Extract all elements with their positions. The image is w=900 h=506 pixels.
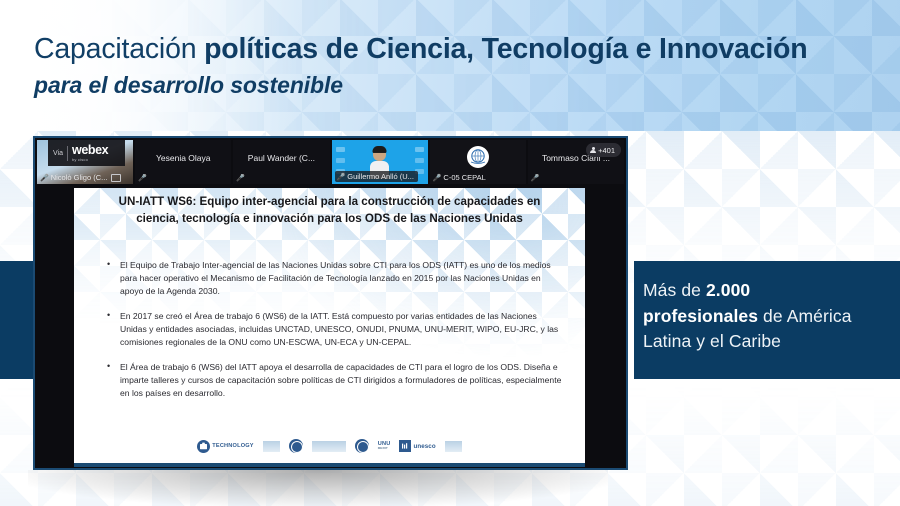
- page-title-bold: políticas de Ciencia, Tecnología e Innov…: [204, 33, 807, 65]
- unesco-icon: [399, 440, 411, 452]
- webex-meeting-window: 🎤 Nicolò Gligo (C... Yesenia Olaya 🎤 Pau…: [33, 136, 628, 470]
- participant-count-text: +401: [598, 146, 615, 155]
- participant-name-text: Paul Wander (C...: [233, 153, 329, 163]
- webex-via-label: Via: [53, 150, 63, 157]
- partner-logo-icon: [263, 441, 280, 452]
- participant-name-text: Guillermo Anlló (U...: [347, 172, 414, 181]
- mic-icon: 🎤: [236, 174, 245, 182]
- participant-tile-yesenia-olaya[interactable]: Yesenia Olaya 🎤: [135, 140, 231, 184]
- slide-bullet: El Área de trabajo 6 (WS6) del IATT apoy…: [102, 361, 562, 400]
- header-text-block: Capacitación políticas de Ciencia, Tecno…: [34, 32, 894, 99]
- technology-bank-logo: TECHNOLOGY: [197, 440, 253, 453]
- participant-mic-status: 🎤: [236, 174, 245, 182]
- navy-accent-bar-left: [0, 261, 33, 379]
- unesco-logo: unesco: [399, 440, 435, 452]
- partner-logo-icon: [312, 441, 346, 452]
- participant-name-text: Nicolò Gligo (C...: [51, 173, 108, 182]
- unu-merit-logo: UNU MERIT: [378, 441, 391, 451]
- mic-icon: 🎤: [337, 173, 346, 181]
- mic-icon: 🎤: [40, 174, 49, 182]
- partner-logo-2: [312, 441, 346, 452]
- slide-bullet-list: El Equipo de Trabajo Inter-agencial de l…: [102, 259, 562, 412]
- highlight-panel-text: Más de 2.000profesionales de América Lat…: [643, 278, 893, 355]
- watermark-divider: [67, 146, 68, 161]
- participant-mic-status: 🎤: [531, 174, 540, 182]
- highlight-bold-word: profesionales: [643, 306, 758, 326]
- participant-count-badge[interactable]: +401: [586, 143, 621, 157]
- un-emblem-icon: [467, 146, 489, 168]
- mic-icon: 🎤: [138, 174, 147, 182]
- partner-logo-1: [263, 441, 280, 452]
- camera-icon: [111, 174, 121, 182]
- shared-slide[interactable]: UN-IATT WS6: Equipo inter-agencial para …: [74, 188, 585, 467]
- participant-tile-c05-cepal[interactable]: 🎤 C-05 CEPAL: [430, 140, 526, 184]
- participant-name-label: 🎤 C-05 CEPAL: [433, 173, 486, 182]
- slide-footer-rule: [74, 463, 585, 467]
- mic-icon: 🎤: [433, 174, 442, 182]
- page-title-prefix: Capacitación: [34, 33, 204, 65]
- participant-mic-status: 🎤: [138, 174, 147, 182]
- page-subtitle: para el desarrollo sostenible: [34, 71, 894, 99]
- highlight-number: 2.000: [706, 280, 750, 300]
- un-logo-2: [355, 439, 369, 453]
- logo-wordmark: UNU MERIT: [378, 441, 391, 451]
- webex-watermark: Via webex by cisco: [48, 140, 125, 166]
- unu-merit-line2: MERIT: [378, 447, 391, 451]
- participant-tile-guillermo-anllo[interactable]: 🎤 Guillermo Anlló (U...: [332, 140, 428, 184]
- cepal-icon: [445, 441, 462, 452]
- participant-tile-paul-wander[interactable]: Paul Wander (C... 🎤: [233, 140, 329, 184]
- webex-logo: webex by cisco: [72, 144, 108, 162]
- participant-name-text: C-05 CEPAL: [443, 173, 485, 182]
- slide-title: UN-IATT WS6: Equipo inter-agencial para …: [98, 194, 561, 227]
- slide-bullet: El Equipo de Trabajo Inter-agencial de l…: [102, 259, 562, 298]
- slide-bullet: En 2017 se creó el Área de trabajo 6 (WS…: [102, 310, 562, 349]
- person-icon: [590, 147, 596, 154]
- participant-name-label: 🎤 Nicolò Gligo (C...: [40, 173, 121, 182]
- logo-wordmark: TECHNOLOGY: [212, 443, 253, 449]
- page-title: Capacitación políticas de Ciencia, Tecno…: [34, 32, 894, 66]
- slide-screenshot-page: Capacitación políticas de Ciencia, Tecno…: [0, 0, 900, 506]
- un-logo-1: [289, 439, 303, 453]
- un-emblem-icon: [355, 439, 369, 453]
- logo-wordmark: unesco: [413, 443, 435, 450]
- webex-brand-subtext: by cisco: [72, 158, 108, 162]
- mic-icon: 🎤: [531, 174, 540, 182]
- participant-name-text: Yesenia Olaya: [135, 153, 231, 163]
- cepal-logo: [445, 441, 462, 452]
- highlight-lead: Más de: [643, 280, 706, 300]
- webex-brand-text: webex: [72, 144, 108, 157]
- video-frame-shadow: [28, 470, 608, 506]
- un-emblem-icon: [289, 439, 303, 453]
- technology-bank-icon: [197, 440, 210, 453]
- participant-name-label: 🎤 Guillermo Anlló (U...: [335, 171, 418, 182]
- slide-logo-row: TECHNOLOGY UNU MERIT: [74, 439, 585, 453]
